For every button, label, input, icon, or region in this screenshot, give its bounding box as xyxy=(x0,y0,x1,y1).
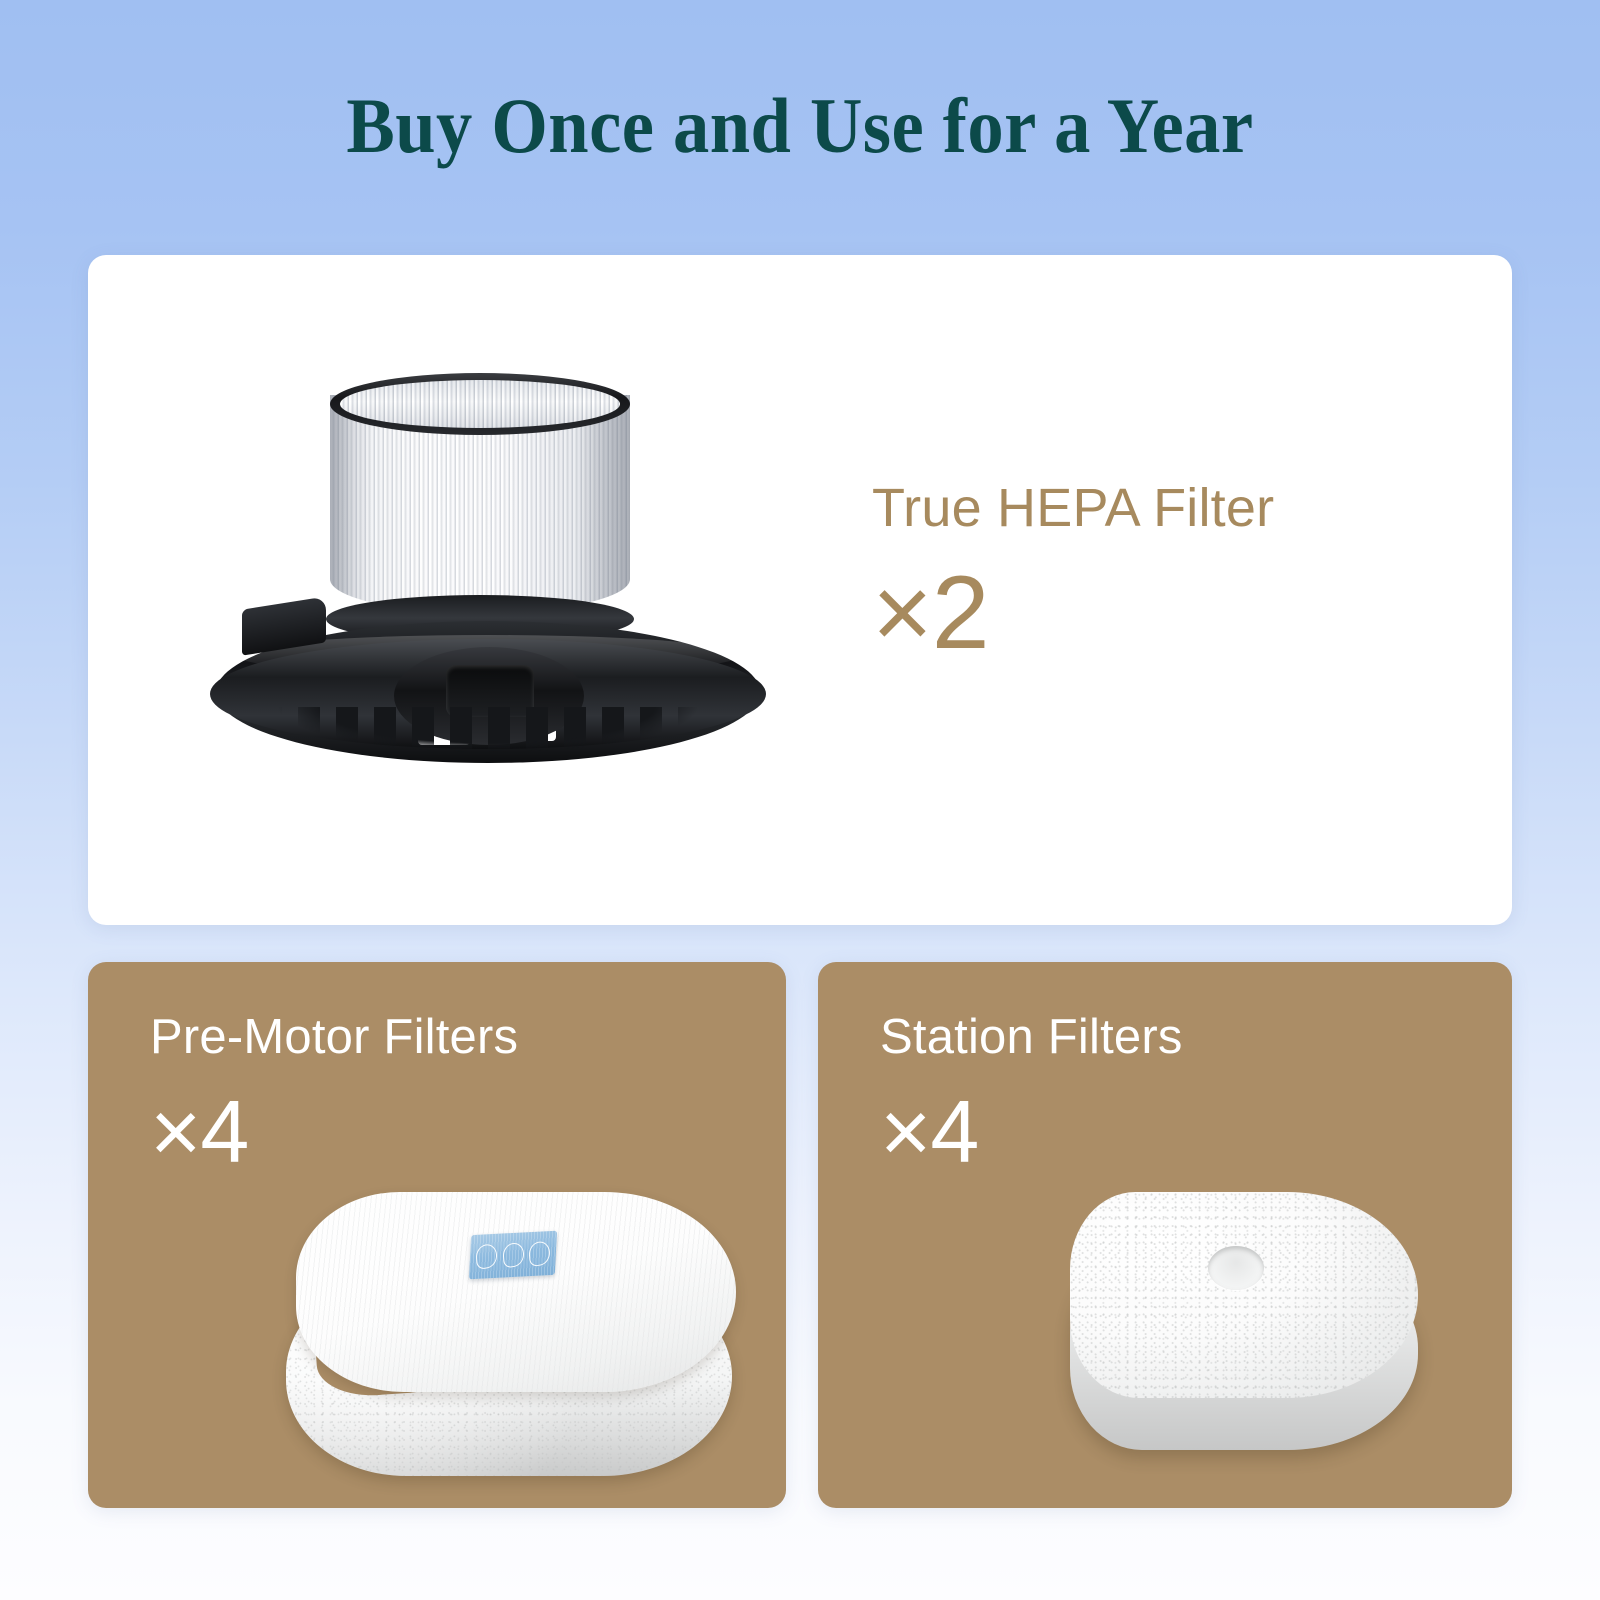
hepa-cartridge xyxy=(330,373,630,623)
page-title: Buy Once and Use for a Year xyxy=(56,78,1544,174)
station-filter-product-image xyxy=(1040,1174,1450,1494)
station-filter-center-dimple xyxy=(1208,1246,1264,1290)
care-symbol-icon-1 xyxy=(475,1243,498,1271)
station-filters-quantity: ×4 xyxy=(880,1084,978,1180)
pre-motor-filters-quantity: ×4 xyxy=(150,1084,248,1180)
hepa-filter-base-assembly xyxy=(208,603,768,793)
station-filters-card: Station Filters ×4 xyxy=(818,962,1512,1508)
hepa-filter-product-image xyxy=(208,365,788,805)
base-tab-teeth xyxy=(222,707,754,765)
filter-top-black-rim xyxy=(330,373,630,435)
station-filters-label: Station Filters xyxy=(880,1008,1183,1066)
hepa-filter-label: True HEPA Filter xyxy=(872,477,1392,539)
pre-motor-care-label-tab xyxy=(469,1231,557,1280)
pre-motor-filters-card: Pre-Motor Filters ×4 xyxy=(88,962,786,1508)
infographic-page: Buy Once and Use for a Year xyxy=(0,0,1600,1600)
hepa-filter-quantity: ×2 xyxy=(872,557,1392,669)
care-symbol-icon-2 xyxy=(501,1241,524,1269)
hepa-text-block: True HEPA Filter ×2 xyxy=(872,477,1392,669)
hepa-filter-card: True HEPA Filter ×2 xyxy=(88,255,1512,925)
filter-top-pleat-opening xyxy=(340,380,620,428)
station-filter-top-surface xyxy=(1070,1192,1418,1398)
care-symbol-icon-3 xyxy=(528,1240,551,1268)
pre-motor-filters-product-image xyxy=(274,1180,744,1490)
care-symbol-icons xyxy=(475,1238,550,1272)
pre-motor-filters-label: Pre-Motor Filters xyxy=(150,1008,518,1066)
pre-motor-felt-notch xyxy=(304,1298,454,1408)
